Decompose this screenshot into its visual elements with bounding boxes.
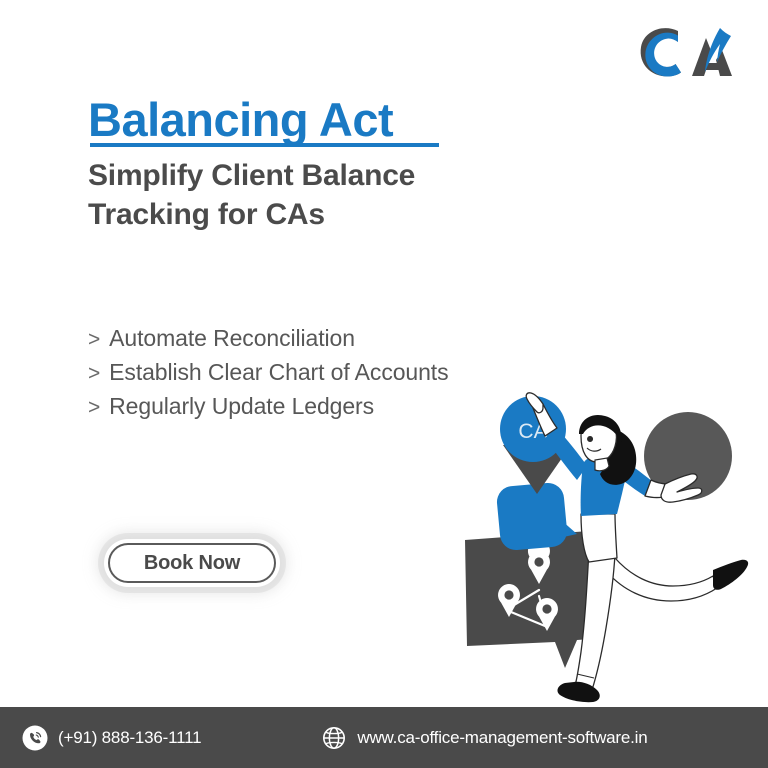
book-now-button[interactable]: Book Now	[108, 543, 276, 583]
hero-illustration: CA	[455, 390, 765, 708]
chevron-right-icon: >	[88, 393, 100, 424]
phone-number: (+91) 888-136-1111	[58, 728, 201, 748]
ca-logo	[634, 22, 738, 84]
feature-label: Regularly Update Ledgers	[109, 390, 374, 424]
feature-label: Establish Clear Chart of Accounts	[109, 356, 448, 390]
website-url: www.ca-office-management-software.in	[357, 728, 647, 748]
footer-bar: (+91) 888-136-1111 www.ca-office-managem…	[0, 707, 768, 768]
footer-website[interactable]: www.ca-office-management-software.in	[321, 725, 647, 751]
book-now-button-wrapper[interactable]: Book Now	[104, 539, 280, 587]
headline-container: Balancing Act	[88, 96, 558, 143]
globe-icon	[321, 725, 347, 751]
subtitle-line-1: Simplify Client Balance	[88, 156, 538, 195]
page-title: Balancing Act	[88, 96, 393, 143]
footer-phone[interactable]: (+91) 888-136-1111	[22, 725, 201, 751]
phone-icon	[22, 725, 48, 751]
chevron-right-icon: >	[88, 359, 100, 390]
list-item: > Automate Reconciliation	[88, 322, 558, 356]
list-item: > Establish Clear Chart of Accounts	[88, 356, 558, 390]
subtitle-line-2: Tracking for CAs	[88, 195, 538, 234]
poster-canvas: Balancing Act Simplify Client Balance Tr…	[0, 0, 768, 768]
chevron-right-icon: >	[88, 325, 100, 356]
feature-label: Automate Reconciliation	[109, 322, 355, 356]
page-subtitle: Simplify Client Balance Tracking for CAs	[88, 156, 538, 234]
headline-underline	[90, 143, 439, 147]
